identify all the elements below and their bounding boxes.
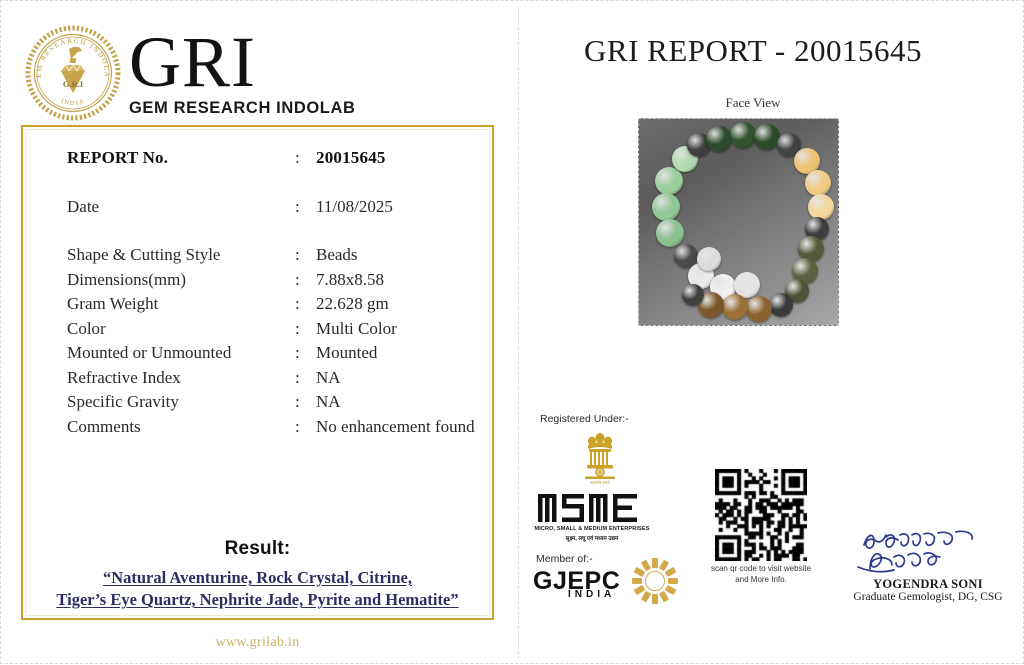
ashoka-emblem-icon: सत्यमेव जयते bbox=[580, 429, 620, 487]
member-of-label: Member of:- bbox=[536, 553, 593, 565]
result-text-line-2: Tiger’s Eye Quartz, Nephrite Jade, Pyrit… bbox=[23, 589, 492, 611]
msme-caption: MICRO, SMALL & MEDIUM ENTERPRISES bbox=[532, 526, 652, 532]
row-value: 11/08/2025 bbox=[316, 197, 393, 217]
qr-code[interactable] bbox=[715, 469, 807, 561]
bead-aventurine bbox=[655, 167, 683, 195]
result-block: Result: “Natural Aventurine, Rock Crysta… bbox=[23, 538, 492, 611]
details-frame: REPORT No. : 20015645 Date : 11/08/2025 … bbox=[21, 125, 494, 620]
row-separator: : bbox=[295, 343, 300, 363]
signatory-name: YOGENDRA SONI bbox=[838, 577, 1018, 592]
bead-tigers-eye bbox=[746, 296, 772, 322]
row-value: 20015645 bbox=[316, 148, 386, 168]
table-row-dimensions: Dimensions(mm) : 7.88x8.58 bbox=[67, 270, 487, 295]
row-separator: : bbox=[295, 197, 300, 217]
bead-aventurine bbox=[652, 193, 680, 221]
table-row-date: Date : 11/08/2025 bbox=[67, 197, 487, 222]
table-row-color: Color : Multi Color bbox=[67, 319, 487, 344]
table-row-refractive-index: Refractive Index : NA bbox=[67, 368, 487, 393]
gri-wordmark: GRI bbox=[129, 27, 429, 97]
bead-hematite bbox=[682, 284, 704, 306]
bead-nephrite-jade bbox=[730, 122, 756, 148]
gemstone-photo bbox=[638, 118, 839, 326]
row-separator: : bbox=[295, 245, 300, 265]
row-value: No enhancement found bbox=[316, 417, 475, 437]
bead-aventurine bbox=[656, 219, 684, 247]
svg-text:सत्यमेव जयते: सत्यमेव जयते bbox=[590, 480, 610, 485]
bead-citrine bbox=[808, 194, 834, 220]
signature-image bbox=[856, 529, 996, 575]
row-separator: : bbox=[295, 294, 300, 314]
row-value: Multi Color bbox=[316, 319, 397, 339]
row-separator: : bbox=[295, 392, 300, 412]
registered-under-label: Registered Under:- bbox=[540, 413, 629, 425]
svg-text:G.R.I: G.R.I bbox=[63, 79, 84, 89]
row-separator: : bbox=[295, 270, 300, 290]
row-separator: : bbox=[295, 368, 300, 388]
row-label: Gram Weight bbox=[67, 294, 158, 314]
row-separator: : bbox=[295, 417, 300, 437]
bead-citrine bbox=[805, 170, 831, 196]
row-label: Color bbox=[67, 319, 106, 339]
bead-nephrite-jade bbox=[706, 126, 732, 152]
row-label: Specific Gravity bbox=[67, 392, 179, 412]
right-panel: GRI REPORT - 20015645 Face View Register… bbox=[518, 1, 1024, 665]
bead-hematite bbox=[769, 293, 793, 317]
row-label: Date bbox=[67, 197, 99, 217]
gri-logo: GRI GEM RESEARCH INDOLAB bbox=[129, 27, 429, 119]
row-separator: : bbox=[295, 148, 300, 168]
website-url[interactable]: www.grilab.in bbox=[1, 635, 514, 651]
certificate-page: GEM RESEARCH INDOLAB INDIA G.R.I bbox=[0, 0, 1024, 664]
row-separator: : bbox=[295, 319, 300, 339]
gri-tagline: GEM RESEARCH INDOLAB bbox=[129, 99, 429, 118]
bead-tigers-eye bbox=[722, 294, 748, 320]
row-label: Mounted or Unmounted bbox=[67, 343, 231, 363]
qr-caption-line-2: and More Info. bbox=[693, 574, 829, 585]
row-label: REPORT No. bbox=[67, 148, 168, 168]
table-row-gram-weight: Gram Weight : 22.628 gm bbox=[67, 294, 487, 319]
page-title: GRI REPORT - 20015645 bbox=[518, 33, 988, 69]
row-value: 22.628 gm bbox=[316, 294, 389, 314]
result-heading: Result: bbox=[23, 538, 492, 560]
row-value: NA bbox=[316, 368, 341, 388]
result-text-line-1: “Natural Aventurine, Rock Crystal, Citri… bbox=[23, 567, 492, 589]
gjepc-wheel-icon bbox=[631, 557, 679, 605]
table-row-mounted: Mounted or Unmounted : Mounted bbox=[67, 343, 487, 368]
details-table: REPORT No. : 20015645 Date : 11/08/2025 … bbox=[67, 148, 487, 441]
row-label: Shape & Cutting Style bbox=[67, 245, 220, 265]
row-value: Beads bbox=[316, 245, 358, 265]
row-value: NA bbox=[316, 392, 341, 412]
table-row-report-number: REPORT No. : 20015645 bbox=[67, 148, 487, 173]
table-row-comments: Comments : No enhancement found bbox=[67, 417, 487, 442]
qr-caption: scan qr code to visit website and More I… bbox=[693, 563, 829, 585]
signatory-role: Graduate Gemologist, DG, CSG bbox=[838, 591, 1018, 603]
bead-rock-crystal bbox=[697, 247, 721, 271]
row-label: Refractive Index bbox=[67, 368, 181, 388]
table-row-specific-gravity: Specific Gravity : NA bbox=[67, 392, 487, 417]
msme-logo-icon bbox=[536, 490, 644, 526]
gri-seal-icon: GEM RESEARCH INDOLAB INDIA G.R.I bbox=[25, 25, 121, 121]
svg-text:INDIA: INDIA bbox=[60, 98, 86, 107]
row-label: Dimensions(mm) bbox=[67, 270, 186, 290]
face-view-label: Face View bbox=[518, 95, 988, 111]
left-panel: GEM RESEARCH INDOLAB INDIA G.R.I bbox=[1, 1, 518, 665]
row-value: 7.88x8.58 bbox=[316, 270, 384, 290]
table-row-shape: Shape & Cutting Style : Beads bbox=[67, 245, 487, 270]
row-label: Comments bbox=[67, 417, 141, 437]
row-value: Mounted bbox=[316, 343, 377, 363]
msme-caption-hindi: सूक्ष्म, लघु एवं मध्यम उद्यम bbox=[532, 534, 652, 542]
gjepc-subtitle: INDIA bbox=[568, 589, 615, 600]
qr-caption-line-1: scan qr code to visit website bbox=[693, 563, 829, 574]
